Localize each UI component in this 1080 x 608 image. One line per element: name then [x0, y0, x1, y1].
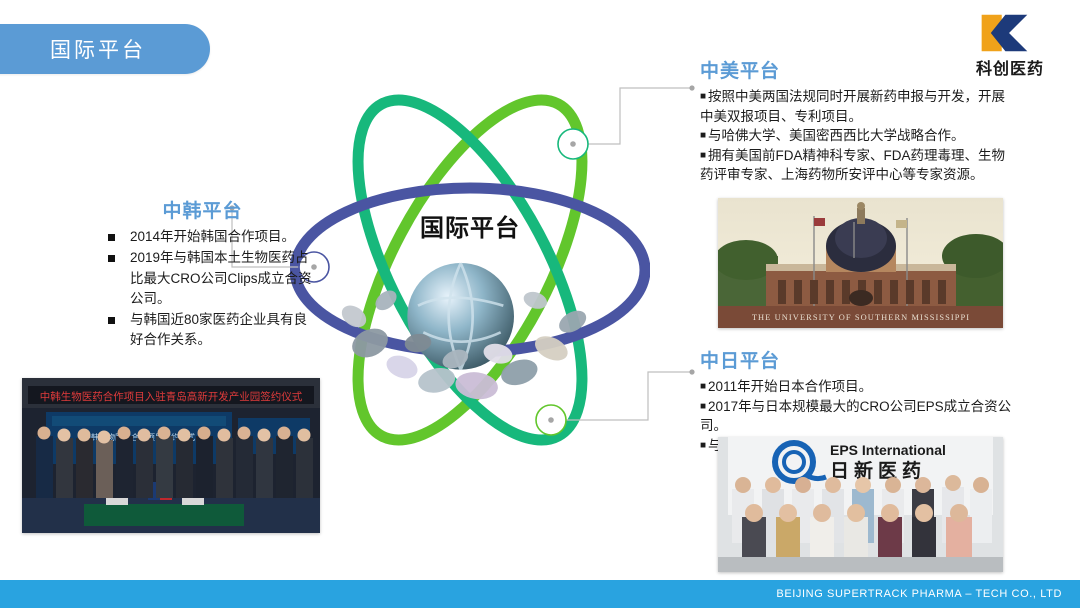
bullet-line: ■2017年与日本规模最大的CRO公司EPS成立合资公司。 [700, 397, 1030, 436]
photo-content: 中韩生物医药合作项目入驻青岛高新开发产业园签约仪式 中韩生物医药合作项目签约仪式 [22, 378, 320, 533]
list-item: 与韩国近80家医药企业具有良好合作关系。 [98, 310, 313, 351]
square-bullet-icon: ■ [700, 381, 706, 392]
bullet-text: 2017年与日本规模最大的CRO公司EPS成立合资公司。 [700, 399, 1011, 434]
block-china-korea: 中韩平台 2014年开始韩国合作项目。 2019年与韩国本土生物医药占比最大CR… [98, 196, 313, 352]
eps-international-group-photo: EPS International 日新医药 [718, 437, 1003, 572]
footer-bar: BEIJING SUPERTRACK PHARMA – TECH CO., LT… [0, 580, 1080, 608]
square-bullet-icon: ■ [700, 440, 706, 451]
page-title: 国际平台 [50, 34, 146, 64]
bullet-text: 2011年开始日本合作项目。 [708, 379, 872, 394]
bullet-text: 拥有美国前FDA精神科专家、FDA药理毒理、生物药评审专家、上海药物所安评中心等… [700, 148, 1005, 183]
bullet-line: ■按照中美两国法规同时开展新药申报与开发，开展中美双报项目、专利项目。 [700, 87, 1018, 126]
china-korea-signing-ceremony-photo: 中韩生物医药合作项目入驻青岛高新开发产业园签约仪式 中韩生物医药合作项目签约仪式 [22, 378, 320, 533]
university-of-southern-mississippi-photo: THE UNIVERSITY OF SOUTHERN MISSISSIPPI [718, 198, 1003, 328]
list-item: 2014年开始韩国合作项目。 [98, 227, 313, 247]
bullet-text: 与哈佛大学、美国密西西比大学战略合作。 [708, 128, 965, 143]
bullet-list-china-korea: 2014年开始韩国合作项目。 2019年与韩国本土生物医药占比最大CRO公司Cl… [98, 227, 313, 351]
slide-canvas: 国际平台 科创医药 国际平台 [0, 0, 1080, 608]
heading-china-korea: 中韩平台 [92, 196, 313, 223]
heading-china-japan: 中日平台 [700, 346, 1030, 373]
k-chevron-logo-icon [978, 12, 1042, 54]
photo-content: EPS International 日新医药 [718, 437, 1003, 572]
building-caption: THE UNIVERSITY OF SOUTHERN MISSISSIPPI [752, 313, 970, 322]
backdrop-text-cn: 日新医药 [830, 459, 926, 482]
bullet-text: 按照中美两国法规同时开展新药申报与开发，开展中美双报项目、专利项目。 [700, 89, 1005, 124]
led-banner-text: 中韩生物医药合作项目入驻青岛高新开发产业园签约仪式 [40, 390, 303, 403]
bullet-line: ■拥有美国前FDA精神科专家、FDA药理毒理、生物药评审专家、上海药物所安评中心… [700, 146, 1018, 185]
backdrop-text-en: EPS International [830, 442, 946, 458]
square-bullet-icon: ■ [700, 91, 706, 102]
square-bullet-icon: ■ [700, 150, 706, 161]
bullet-line: ■2011年开始日本合作项目。 [700, 377, 1030, 397]
bullet-line: ■与哈佛大学、美国密西西比大学战略合作。 [700, 126, 1018, 146]
footer-company-text: BEIJING SUPERTRACK PHARMA – TECH CO., LT… [776, 588, 1062, 600]
atom-orbit-graphic: 国际平台 [290, 70, 650, 470]
heading-china-usa: 中美平台 [700, 56, 1018, 83]
square-bullet-icon: ■ [700, 130, 706, 141]
orbit-ellipses-icon [290, 70, 650, 470]
block-china-usa: 中美平台 ■按照中美两国法规同时开展新药申报与开发，开展中美双报项目、专利项目。… [700, 56, 1018, 185]
slide-title-banner: 国际平台 [0, 24, 210, 74]
list-item: 2019年与韩国本土生物医药占比最大CRO公司Clips成立合资公司。 [98, 248, 313, 309]
photo-content: THE UNIVERSITY OF SOUTHERN MISSISSIPPI [718, 198, 1003, 328]
square-bullet-icon: ■ [700, 401, 706, 412]
